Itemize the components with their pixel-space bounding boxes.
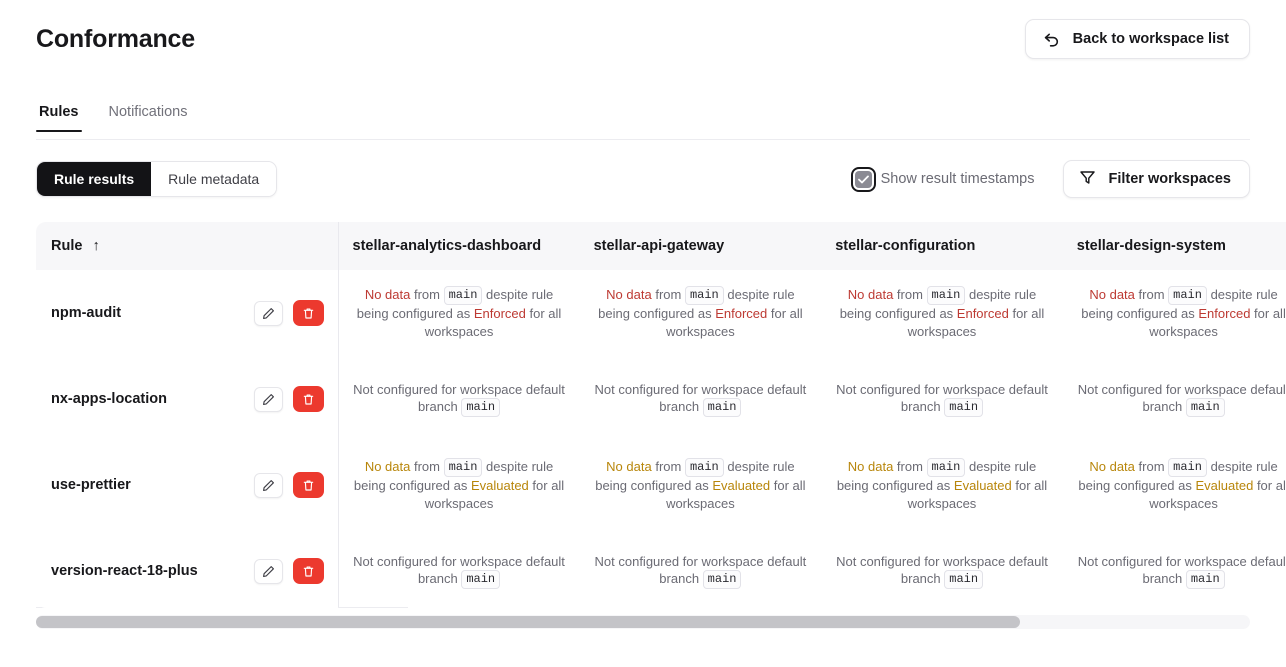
delete-rule-button[interactable] (293, 472, 324, 498)
branch-chip: main (944, 398, 983, 417)
branch-chip: main (1186, 398, 1225, 417)
view-segmented-control: Rule results Rule metadata (36, 161, 277, 197)
result-cell: No data from main despite rule being con… (821, 442, 1063, 528)
status-text: Enforced (474, 306, 526, 321)
column-header-workspace[interactable]: stellar-api-gateway (580, 222, 822, 270)
edit-rule-button[interactable] (254, 301, 283, 326)
result-message: No data from main despite rule being con… (353, 458, 566, 512)
result-cell: No data from main despite rule being con… (580, 270, 822, 356)
delete-rule-button[interactable] (293, 300, 324, 326)
back-button-label: Back to workspace list (1073, 31, 1229, 47)
table-row: use-prettierNo data from main despite ru… (36, 442, 1286, 528)
horizontal-scrollbar-thumb[interactable] (36, 616, 1020, 628)
branch-chip: main (444, 458, 483, 477)
column-header-workspace[interactable]: stellar-analytics-dashboard (338, 222, 580, 270)
delete-trash-icon (302, 479, 315, 492)
table-row: nx-apps-locationNot configured for works… (36, 356, 1286, 442)
result-message: Not configured for workspace default bra… (353, 553, 566, 590)
filter-workspaces-button[interactable]: Filter workspaces (1063, 160, 1251, 198)
status-text: Enforced (1198, 306, 1250, 321)
segment-rule-metadata[interactable]: Rule metadata (151, 162, 276, 196)
status-text: No data (1089, 287, 1135, 302)
result-cell: Not configured for workspace default bra… (1063, 356, 1286, 442)
show-result-timestamps-label: Show result timestamps (881, 171, 1035, 187)
edit-pencil-icon (262, 393, 275, 406)
page-title: Conformance (36, 25, 195, 54)
back-to-workspace-list-button[interactable]: Back to workspace list (1025, 19, 1250, 59)
rule-name: npm-audit (51, 305, 121, 321)
result-message: No data from main despite rule being con… (1077, 458, 1286, 512)
sort-ascending-icon: ↑ (92, 238, 99, 254)
table-row: npm-auditNo data from main despite rule … (36, 270, 1286, 356)
conformance-table-scroll-area[interactable]: Rule ↑ stellar-analytics-dashboardstella… (36, 222, 1286, 608)
branch-chip: main (703, 570, 742, 589)
result-cell: Not configured for workspace default bra… (821, 356, 1063, 442)
rule-name: version-react-18-plus (51, 563, 198, 579)
rule-cell: use-prettier (36, 442, 338, 528)
column-header-workspace[interactable]: stellar-design-system (1063, 222, 1286, 270)
status-text: Evaluated (471, 478, 529, 493)
toolbar-right-group: Show result timestamps Filter workspaces (855, 160, 1250, 198)
result-cell: Not configured for workspace default bra… (338, 528, 580, 608)
column-header-workspace[interactable]: stellar-configuration (821, 222, 1063, 270)
column-header-workspace-label: stellar-design-system (1077, 238, 1226, 254)
delete-rule-button[interactable] (293, 558, 324, 584)
edit-rule-button[interactable] (254, 387, 283, 412)
branch-chip: main (461, 570, 500, 589)
edit-pencil-icon (262, 307, 275, 320)
status-text: Evaluated (712, 478, 770, 493)
result-cell: No data from main despite rule being con… (1063, 442, 1286, 528)
rule-cell: npm-audit (36, 270, 338, 356)
status-text: Enforced (715, 306, 767, 321)
tab-rules[interactable]: Rules (36, 104, 82, 131)
funnel-icon (1079, 169, 1096, 190)
table-row: version-react-18-plusNot configured for … (36, 528, 1286, 608)
result-message: Not configured for workspace default bra… (594, 381, 808, 418)
result-message: No data from main despite rule being con… (835, 458, 1049, 512)
result-message: No data from main despite rule being con… (594, 286, 808, 340)
status-text: Evaluated (954, 478, 1012, 493)
result-cell: Not configured for workspace default bra… (580, 528, 822, 608)
status-text: No data (1089, 459, 1135, 474)
result-message: No data from main despite rule being con… (353, 286, 566, 340)
edit-pencil-icon (262, 565, 275, 578)
branch-chip: main (1168, 458, 1207, 477)
column-header-workspace-label: stellar-analytics-dashboard (353, 238, 542, 254)
branch-chip: main (1168, 286, 1207, 305)
table-header-row: Rule ↑ stellar-analytics-dashboardstella… (36, 222, 1286, 270)
table-body: npm-auditNo data from main despite rule … (36, 270, 1286, 608)
column-header-workspace-label: stellar-api-gateway (594, 238, 725, 254)
edit-rule-button[interactable] (254, 473, 283, 498)
filter-workspaces-label: Filter workspaces (1109, 171, 1232, 187)
result-cell: No data from main despite rule being con… (821, 270, 1063, 356)
result-message: Not configured for workspace default bra… (1077, 553, 1286, 590)
status-text: No data (606, 287, 652, 302)
page-header: Conformance Back to workspace list (0, 0, 1286, 78)
back-arrow-icon (1042, 30, 1061, 49)
rule-cell: version-react-18-plus (36, 528, 338, 608)
result-message: No data from main despite rule being con… (835, 286, 1049, 340)
status-text: Enforced (957, 306, 1009, 321)
result-cell: Not configured for workspace default bra… (1063, 528, 1286, 608)
rule-cell: nx-apps-location (36, 356, 338, 442)
delete-trash-icon (302, 565, 315, 578)
show-result-timestamps-checkbox[interactable]: Show result timestamps (855, 171, 1035, 188)
result-cell: No data from main despite rule being con… (338, 442, 580, 528)
conformance-table: Rule ↑ stellar-analytics-dashboardstella… (36, 222, 1286, 608)
result-message: No data from main despite rule being con… (594, 458, 808, 512)
delete-rule-button[interactable] (293, 386, 324, 412)
result-cell: No data from main despite rule being con… (580, 442, 822, 528)
delete-trash-icon (302, 307, 315, 320)
column-header-workspace-label: stellar-configuration (835, 238, 975, 254)
checkbox-checked-icon[interactable] (855, 171, 872, 188)
conformance-page: Conformance Back to workspace list Rules… (0, 0, 1286, 667)
result-cell: Not configured for workspace default bra… (338, 356, 580, 442)
branch-chip: main (1186, 570, 1225, 589)
main-tabs: Rules Notifications (36, 104, 1250, 140)
delete-trash-icon (302, 393, 315, 406)
status-text: No data (848, 459, 894, 474)
branch-chip: main (927, 286, 966, 305)
branch-chip: main (944, 570, 983, 589)
result-cell: No data from main despite rule being con… (1063, 270, 1286, 356)
row-actions (254, 386, 324, 412)
result-cell: Not configured for workspace default bra… (821, 528, 1063, 608)
branch-chip: main (461, 398, 500, 417)
row-actions (254, 558, 324, 584)
status-text: No data (606, 459, 652, 474)
result-message: Not configured for workspace default bra… (353, 381, 566, 418)
result-message: No data from main despite rule being con… (1077, 286, 1286, 340)
column-header-rule[interactable]: Rule ↑ (36, 222, 338, 270)
status-text: No data (365, 287, 411, 302)
result-cell: Not configured for workspace default bra… (580, 356, 822, 442)
horizontal-scrollbar-track[interactable] (36, 615, 1250, 629)
segment-rule-results[interactable]: Rule results (37, 162, 151, 196)
branch-chip: main (444, 286, 483, 305)
rule-name: use-prettier (51, 477, 131, 493)
branch-chip: main (685, 458, 724, 477)
result-message: Not configured for workspace default bra… (835, 553, 1049, 590)
status-text: Evaluated (1196, 478, 1254, 493)
row-actions (254, 472, 324, 498)
edit-rule-button[interactable] (254, 559, 283, 584)
edit-pencil-icon (262, 479, 275, 492)
result-message: Not configured for workspace default bra… (835, 381, 1049, 418)
branch-chip: main (927, 458, 966, 477)
status-text: No data (848, 287, 894, 302)
row-actions (254, 300, 324, 326)
tab-notifications[interactable]: Notifications (106, 104, 191, 131)
rule-name: nx-apps-location (51, 391, 167, 407)
status-text: No data (365, 459, 411, 474)
column-header-rule-label: Rule (51, 238, 82, 254)
result-message: Not configured for workspace default bra… (1077, 381, 1286, 418)
table-toolbar: Rule results Rule metadata Show result t… (36, 161, 1250, 197)
result-message: Not configured for workspace default bra… (594, 553, 808, 590)
branch-chip: main (685, 286, 724, 305)
branch-chip: main (703, 398, 742, 417)
result-cell: No data from main despite rule being con… (338, 270, 580, 356)
table-header: Rule ↑ stellar-analytics-dashboardstella… (36, 222, 1286, 270)
